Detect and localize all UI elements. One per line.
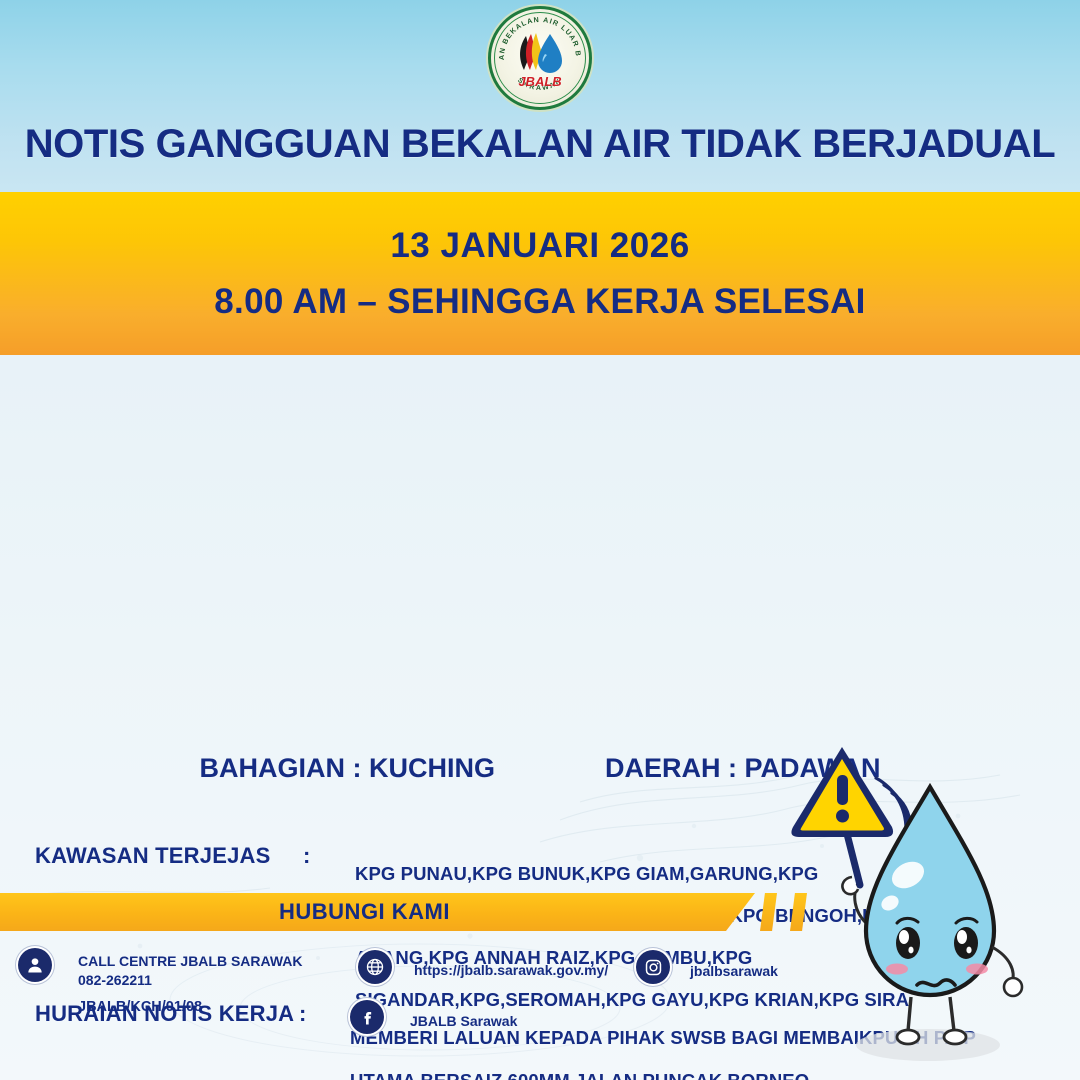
instagram-handle[interactable]: jbalbsarawak — [690, 962, 778, 981]
water-droplet-mascot-icon — [780, 735, 1080, 1080]
page-title: NOTIS GANGGUAN BEKALAN AIR TIDAK BERJADU… — [0, 122, 1080, 167]
work-description-colon: : — [299, 1001, 306, 1027]
jbalb-logo: JABATAN BEKALAN AIR LUAR BANDAR SARAWAK … — [488, 6, 592, 110]
facebook-page[interactable]: JBALB Sarawak — [410, 1012, 517, 1031]
facebook-icon[interactable] — [350, 1000, 384, 1034]
website-link[interactable]: https://jbalb.sarawak.gov.my/ — [414, 961, 608, 980]
poster-header: JABATAN BEKALAN AIR LUAR BANDAR SARAWAK … — [0, 0, 1080, 192]
instagram-icon[interactable] — [636, 950, 670, 984]
person-icon — [18, 948, 52, 982]
date-time-band: 13 JANUARI 2026 8.00 AM – SEHINGGA KERJA… — [0, 192, 1080, 355]
division-label: BAHAGIAN : KUCHING — [200, 753, 495, 784]
notice-date: 13 JANUARI 2026 — [390, 226, 689, 266]
contact-banner: HUBUNGI KAMI — [0, 893, 755, 931]
call-centre-name: CALL CENTRE JBALB SARAWAK — [78, 952, 303, 971]
call-centre-block: CALL CENTRE JBALB SARAWAK 082-262211 — [78, 952, 303, 990]
logo-artwork-icon: JABATAN BEKALAN AIR LUAR BANDAR SARAWAK … — [488, 6, 592, 110]
affected-areas-colon: : — [303, 843, 310, 869]
call-centre-phone: 082-262211 — [78, 971, 303, 990]
svg-text:JBALB: JBALB — [518, 74, 561, 89]
reference-code: JBALB/KCH/01/08 — [78, 999, 202, 1015]
contact-banner-label: HUBUNGI KAMI — [279, 899, 450, 925]
globe-icon[interactable] — [358, 950, 392, 984]
notice-time: 8.00 AM – SEHINGGA KERJA SELESAI — [214, 282, 865, 322]
affected-areas-label: KAWASAN TERJEJAS — [35, 843, 270, 869]
water-disruption-notice-poster: JABATAN BEKALAN AIR LUAR BANDAR SARAWAK … — [0, 0, 1080, 1080]
